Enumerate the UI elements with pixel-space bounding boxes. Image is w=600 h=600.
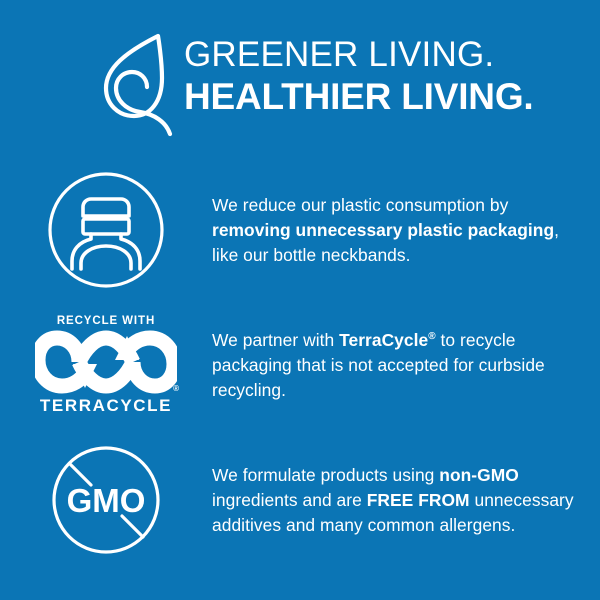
text-segment: ingredients and are (212, 490, 367, 510)
terracycle-logo-block: RECYCLE WITH ® TERRACYCLE (31, 315, 181, 416)
feature-row-terracycle: RECYCLE WITH ® TERRACYCLE (0, 305, 600, 425)
header-line-1: GREENER LIVING. (184, 34, 533, 76)
feature-row-plastic-reduction: We reduce our plastic consumption by rem… (0, 170, 600, 290)
header-text-group: GREENER LIVING. HEALTHIER LIVING. (184, 30, 533, 118)
header-banner: GREENER LIVING. HEALTHIER LIVING. (0, 30, 600, 145)
leaf-icon (96, 30, 178, 140)
text-segment: We partner with (212, 330, 339, 350)
bottle-neckband-circle-icon (0, 170, 212, 290)
feature-paragraph: We reduce our plastic consumption by rem… (212, 193, 586, 268)
text-segment: We formulate products using (212, 465, 439, 485)
header-line-2: HEALTHIER LIVING. (184, 76, 533, 118)
text-segment: We reduce our plastic consumption (212, 195, 490, 215)
feature-row-non-gmo: GMO We formulate products using non-GMO … (0, 440, 600, 560)
text-segment-bold: removing unnecessary plastic packaging (212, 220, 554, 240)
terracycle-top-label: RECYCLE WITH (57, 315, 155, 327)
feature-paragraph: We formulate products using non-GMO ingr… (212, 463, 586, 538)
feature-text-non-gmo: We formulate products using non-GMO ingr… (212, 463, 600, 538)
gmo-label: GMO (67, 482, 146, 519)
text-segment-bold: FREE FROM (367, 490, 470, 510)
registered-mark: ® (428, 331, 435, 342)
terracycle-logo: RECYCLE WITH ® TERRACYCLE (0, 305, 212, 425)
registered-mark: ® (173, 385, 179, 393)
text-segment-bold: non-GMO (439, 465, 519, 485)
feature-text-plastic-reduction: We reduce our plastic consumption by rem… (212, 193, 600, 268)
text-segment: by (490, 195, 508, 215)
infographic-page: { "theme": { "background": "#0b75b5", "f… (0, 0, 600, 600)
no-gmo-circle-icon: GMO (0, 440, 212, 560)
text-segment-bold: TerraCycle (339, 330, 428, 350)
infinity-recycle-arrows-icon: ® (35, 330, 177, 394)
terracycle-wordmark: TERRACYCLE (40, 396, 172, 416)
feature-text-terracycle: We partner with TerraCycle® to recycle p… (212, 328, 600, 403)
feature-paragraph: We partner with TerraCycle® to recycle p… (212, 328, 586, 403)
